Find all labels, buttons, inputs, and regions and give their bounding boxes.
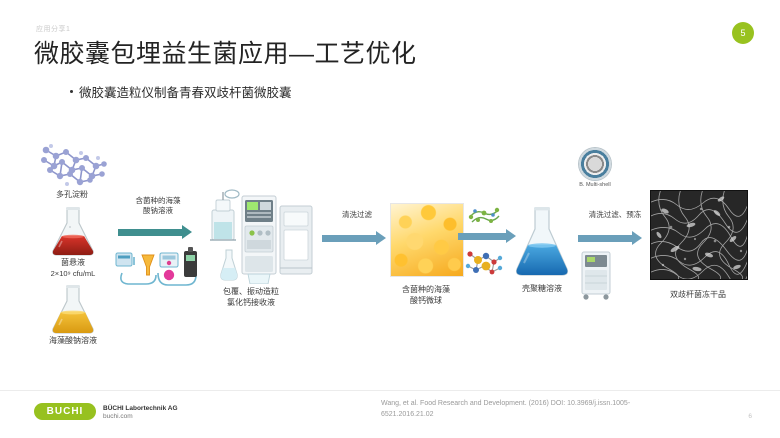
- chitosan-flask-icon: [512, 205, 572, 282]
- arrow-label-wash-filter-text: 清洗过滤: [323, 210, 391, 220]
- arrow-label-wash-prefreeze-text: 清洗过滤、预冻: [572, 210, 658, 220]
- bullet-dot-icon: [70, 90, 73, 93]
- arrow-label-alginate-line1: 含菌种的海藻: [117, 196, 199, 206]
- caption-encapsulation: 包覆、振动造粒 氯化钙接收液: [198, 287, 304, 309]
- dropper-bottle-icon: [216, 248, 242, 287]
- caption-chitosan: 壳聚糖溶液: [492, 284, 592, 295]
- caption-encapsulation-line1: 包覆、振动造粒: [198, 287, 304, 298]
- caption-sodium-alginate-label: 海藻酸钠溶液: [15, 336, 131, 347]
- bacteria-molecule-icon: [466, 203, 502, 232]
- footer-divider: [0, 390, 780, 391]
- sem-image-freeze-dried-product: [650, 190, 748, 280]
- freeze-dryer-illustration: [578, 250, 614, 307]
- multi-shell-label: B. Multi-shell: [562, 182, 628, 188]
- multi-shell-diagram: B. Multi-shell: [562, 148, 628, 188]
- bullet-label: 微胶囊造粒仪制备青春双歧杆菌微胶囊: [79, 82, 292, 101]
- citation-text: Wang, et al. Food Research and Developme…: [381, 399, 681, 421]
- slide-overline: 应用分享1: [36, 24, 70, 34]
- chitosan-molecule-icon: [462, 246, 506, 285]
- process-arrow-4: [578, 234, 642, 242]
- porous-starch-molecule-icon: [36, 140, 110, 197]
- arrow-head: [632, 231, 642, 245]
- arrow-shaft: [322, 235, 376, 242]
- caption-calcium-alginate-beads: 含菌种的海藻 酸钙微球: [374, 285, 478, 307]
- caption-beads-line2: 酸钙微球: [374, 296, 478, 307]
- sodium-alginate-flask-icon: [48, 283, 98, 340]
- caption-porous-starch-label: 多孔淀粉: [22, 190, 122, 201]
- caption-sem-product-label: 双歧杆菌冻干品: [646, 290, 750, 301]
- process-arrow-1: [118, 228, 192, 236]
- buchi-logo-text: BUCHI: [47, 406, 84, 417]
- process-arrow-2: [322, 234, 386, 242]
- caption-sodium-alginate: 海藻酸钠溶液: [15, 336, 131, 347]
- caption-sem-product: 双歧杆菌冻干品: [646, 290, 750, 301]
- caption-chitosan-label: 壳聚糖溶液: [492, 284, 592, 295]
- arrow-shaft: [458, 233, 506, 240]
- bacterial-suspension-flask-icon: [48, 205, 98, 262]
- arrow-head: [376, 231, 386, 245]
- caption-porous-starch: 多孔淀粉: [22, 190, 122, 201]
- buchi-logo: BUCHI: [34, 403, 96, 420]
- mixing-process-illustration: [112, 243, 204, 298]
- slide-title: 微胶囊包埋益生菌应用—工艺优化: [34, 34, 417, 70]
- caption-beads-line1: 含菌种的海藻: [374, 285, 478, 296]
- arrow-shaft: [578, 235, 632, 242]
- calcium-alginate-beads-image: [390, 203, 464, 277]
- arrow-label-alginate-with-strain: 含菌种的海藻 酸钠溶液: [117, 196, 199, 216]
- company-name: BÜCHI Labortechnik AG: [103, 405, 178, 412]
- arrow-head: [182, 225, 192, 239]
- caption-encapsulation-line2: 氯化钙接收液: [198, 298, 304, 309]
- sem-texture: [651, 191, 747, 279]
- page-number: 6: [748, 413, 752, 420]
- slide-number-badge: 5: [732, 22, 754, 44]
- arrow-shaft: [118, 229, 182, 236]
- company-url: buchi.com: [103, 413, 133, 420]
- slide-bullet: 微胶囊造粒仪制备青春双歧杆菌微胶囊: [70, 82, 292, 101]
- process-arrow-3: [458, 232, 516, 240]
- arrow-label-alginate-line2: 酸钠溶液: [117, 206, 199, 216]
- presentation-slide: 应用分享1 微胶囊包埋益生菌应用—工艺优化 微胶囊造粒仪制备青春双歧杆菌微胶囊 …: [0, 0, 780, 438]
- arrow-label-wash-filter: 清洗过滤: [323, 210, 391, 220]
- arrow-label-wash-prefreeze: 清洗过滤、预冻: [572, 210, 658, 220]
- multi-shell-ring-icon: [579, 148, 611, 180]
